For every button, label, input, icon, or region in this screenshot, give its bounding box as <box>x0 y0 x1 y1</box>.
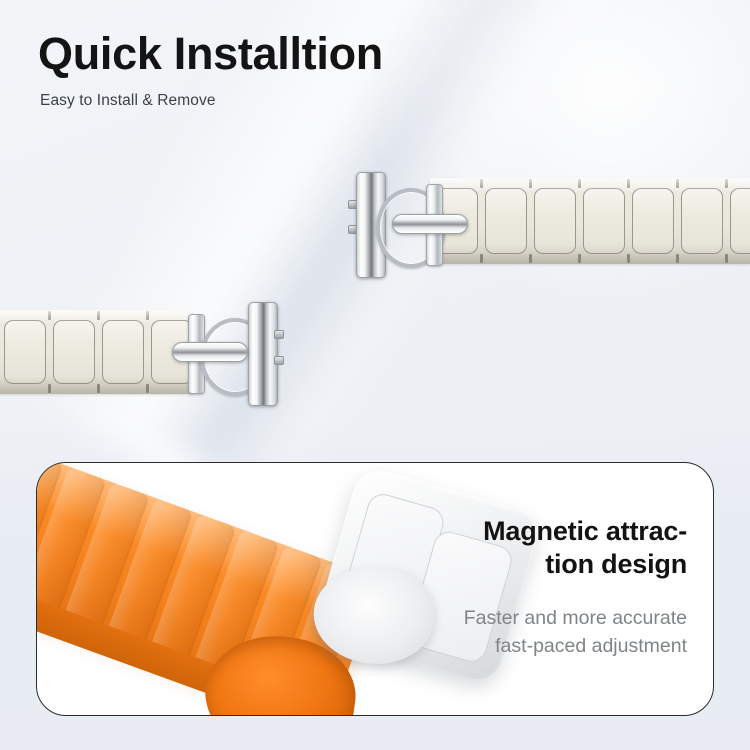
clasp-horizontal-bar <box>392 214 468 234</box>
band-strip <box>0 310 192 394</box>
header-block: Quick Installtion Easy to Install & Remo… <box>38 30 678 110</box>
page-title: Quick Installtion <box>38 30 678 78</box>
magnetic-buckle-clasp-lower <box>180 302 295 406</box>
clasp-plate <box>248 302 278 406</box>
magnetic-buckle-clasp-upper <box>348 170 458 280</box>
feature-card: Magnetic attrac- tion design Faster and … <box>36 462 714 716</box>
clasp-horizontal-bar <box>172 342 248 362</box>
watch-band-upper <box>430 178 750 264</box>
feature-title: Magnetic attrac- tion design <box>387 515 687 581</box>
feature-subtitle: Faster and more accurate fast-paced adju… <box>387 605 687 660</box>
feature-subtitle-line1: Faster and more accurate <box>387 605 687 633</box>
page-subtitle: Easy to Install & Remove <box>40 92 678 110</box>
feature-subtitle-line2: fast-paced adjustment <box>387 633 687 661</box>
band-strip <box>430 178 750 264</box>
feature-title-line1: Magnetic attrac- <box>483 516 687 546</box>
feature-text-block: Magnetic attrac- tion design Faster and … <box>387 515 687 660</box>
watch-band-lower <box>0 310 192 394</box>
product-marketing-image: Quick Installtion Easy to Install & Remo… <box>0 0 750 750</box>
feature-title-line2: tion design <box>545 549 687 579</box>
